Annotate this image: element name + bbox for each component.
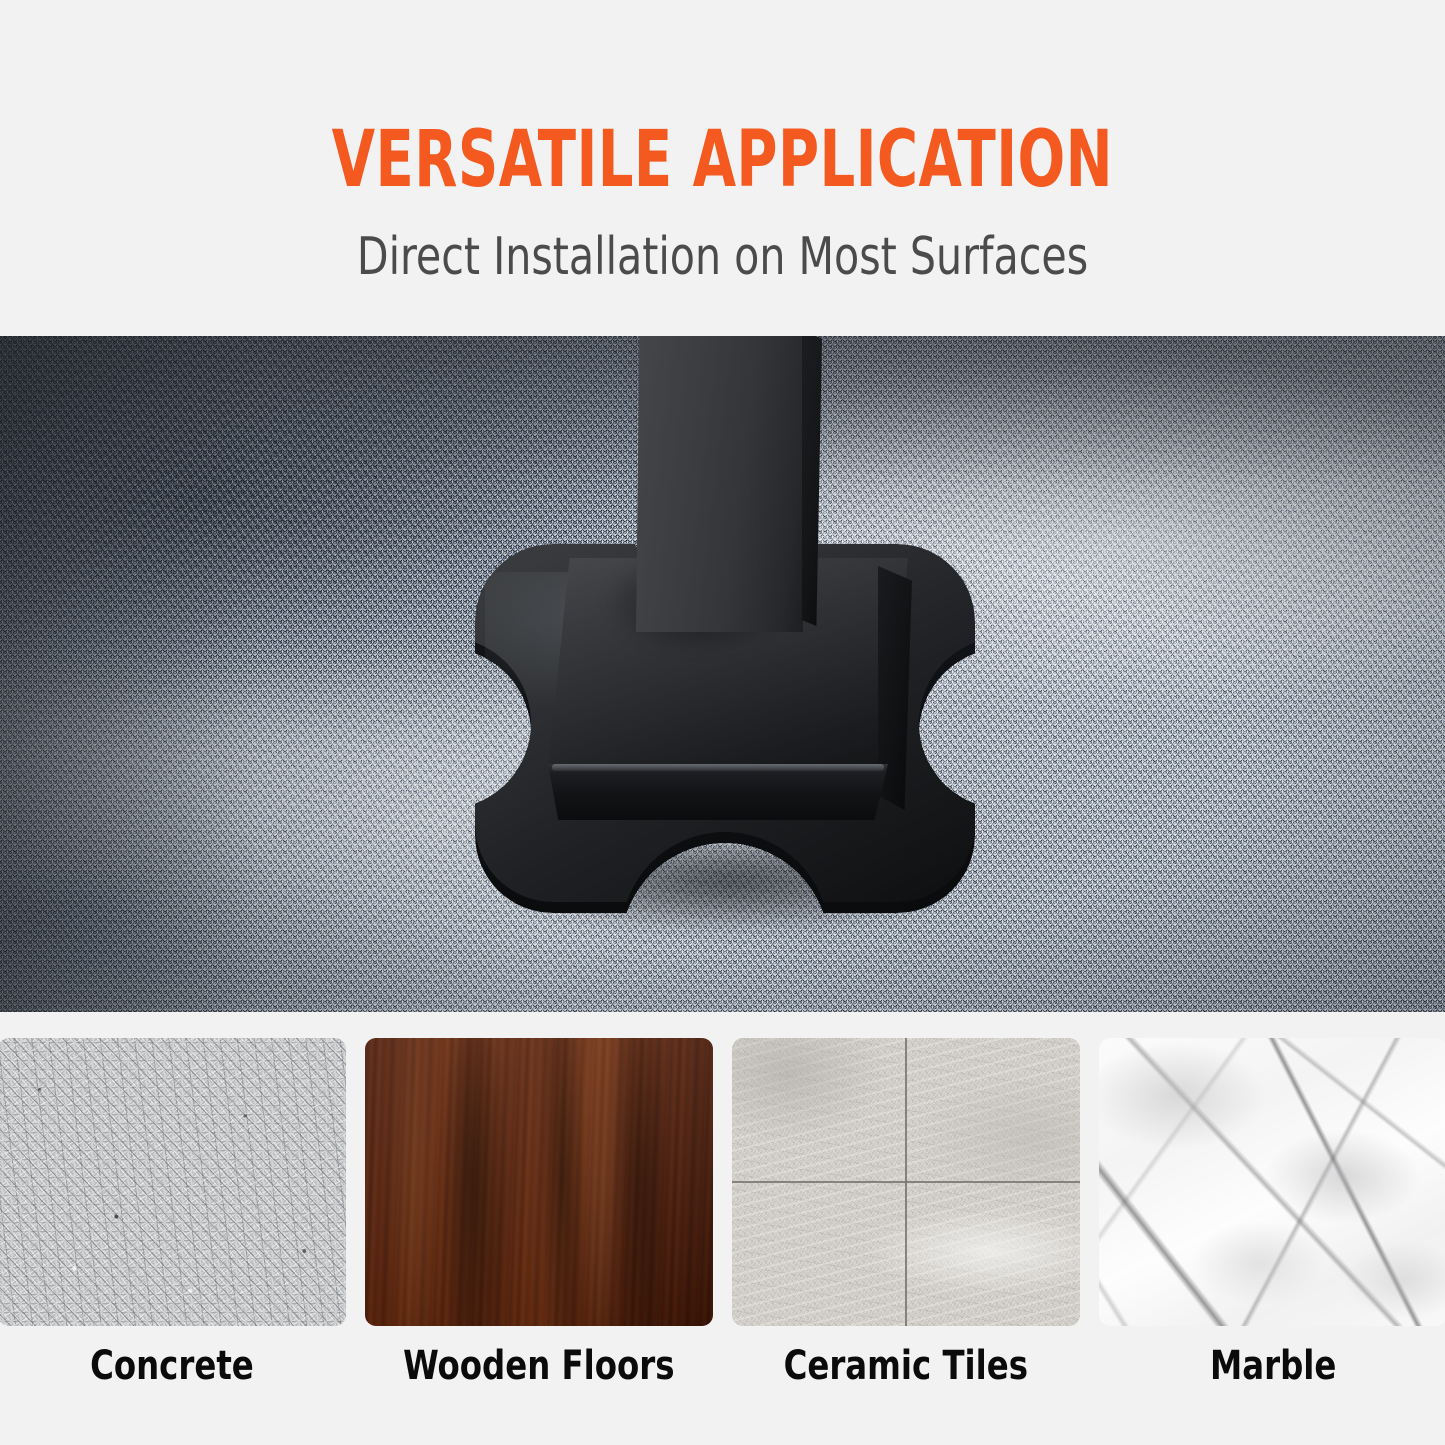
header-banner: VERSATILE APPLICATION Direct Installatio…: [0, 0, 1445, 336]
surface-caption-row: Concrete Wooden Floors Ceramic Tiles Mar…: [0, 1342, 1445, 1412]
caption-wooden-floors-label: Wooden Floors: [403, 1342, 674, 1390]
pedestal-front-face: [548, 764, 888, 820]
caption-marble-label: Marble: [1210, 1342, 1336, 1390]
swatch-marble[interactable]: [1099, 1038, 1445, 1326]
caption-ceramic-tiles-label: Ceramic Tiles: [784, 1342, 1028, 1390]
surface-swatch-row: [0, 1038, 1445, 1338]
hero-product-photo: [0, 336, 1445, 1012]
table-base-product: [455, 336, 995, 926]
caption-concrete-label: Concrete: [90, 1342, 254, 1390]
column-front-face: [636, 336, 808, 632]
swatch-concrete[interactable]: [0, 1038, 346, 1326]
page-subtitle: Direct Installation on Most Surfaces: [357, 228, 1088, 286]
swatch-wooden-floors[interactable]: [365, 1038, 713, 1326]
caption-concrete: Concrete: [0, 1342, 346, 1412]
promo-page: VERSATILE APPLICATION Direct Installatio…: [0, 0, 1445, 1445]
caption-marble: Marble: [1099, 1342, 1445, 1412]
swatch-ceramic-tiles[interactable]: [732, 1038, 1080, 1326]
caption-ceramic-tiles: Ceramic Tiles: [732, 1342, 1080, 1412]
vertical-column: [636, 336, 808, 632]
page-title: VERSATILE APPLICATION: [332, 118, 1113, 202]
pedestal-front-highlight: [552, 764, 884, 771]
caption-wooden-floors: Wooden Floors: [365, 1342, 713, 1412]
